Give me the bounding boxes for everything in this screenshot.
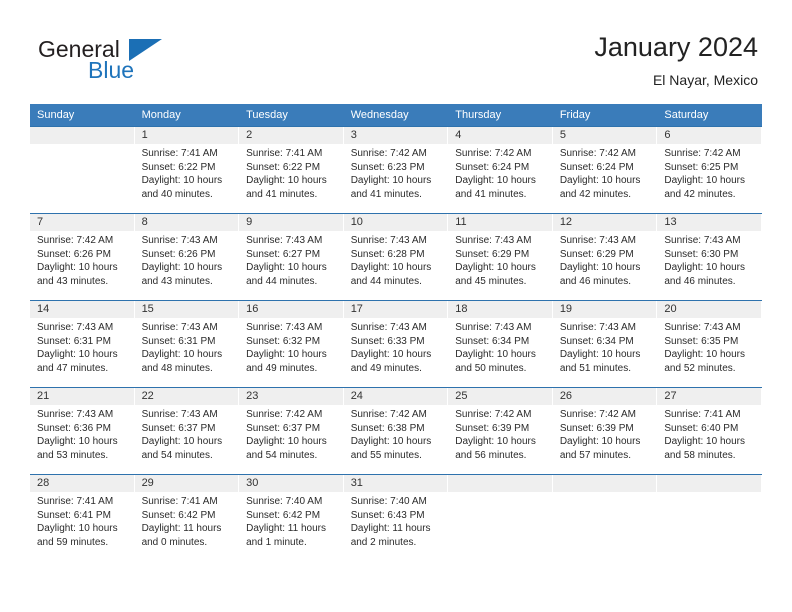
sunset-text: Sunset: 6:33 PM <box>351 335 444 349</box>
sunrise-text: Sunrise: 7:43 AM <box>351 321 444 335</box>
page-title: January 2024 <box>594 30 758 64</box>
sunrise-text: Sunrise: 7:42 AM <box>351 408 444 422</box>
week-detail-band: Sunrise: 7:42 AM Sunset: 6:26 PM Dayligh… <box>30 231 762 300</box>
sunrise-text: Sunrise: 7:43 AM <box>664 321 757 335</box>
sunrise-text: Sunrise: 7:43 AM <box>560 234 653 248</box>
day-cell[interactable]: Sunrise: 7:42 AM Sunset: 6:25 PM Dayligh… <box>657 144 762 213</box>
sunrise-text: Sunrise: 7:43 AM <box>37 321 130 335</box>
day-number[interactable]: 25 <box>448 388 553 405</box>
daylight-text-line1: Daylight: 10 hours <box>142 348 235 362</box>
sunrise-text: Sunrise: 7:41 AM <box>246 147 339 161</box>
day-number[interactable]: 15 <box>135 301 240 318</box>
daylight-text-line1: Daylight: 10 hours <box>560 348 653 362</box>
sunset-text: Sunset: 6:34 PM <box>455 335 548 349</box>
week-daynumber-band: 21 22 23 24 25 26 27 <box>30 388 762 405</box>
calendar-week-row: 28 29 30 31 Sunrise: 7:41 AM Sunset: 6:4… <box>30 474 762 555</box>
daylight-text-line1: Daylight: 10 hours <box>351 348 444 362</box>
day-number[interactable]: 30 <box>239 475 344 492</box>
daylight-text-line2: and 43 minutes. <box>37 275 130 289</box>
sunset-text: Sunset: 6:26 PM <box>37 248 130 262</box>
daylight-text-line1: Daylight: 11 hours <box>351 522 444 536</box>
calendar-page: General Blue January 2024 El Nayar, Mexi… <box>0 0 792 612</box>
daylight-text-line2: and 44 minutes. <box>246 275 339 289</box>
sunset-text: Sunset: 6:40 PM <box>664 422 757 436</box>
day-number[interactable]: 7 <box>30 214 135 231</box>
day-number[interactable]: 17 <box>344 301 449 318</box>
daylight-text-line2: and 52 minutes. <box>664 362 757 376</box>
weekday-header-row: Sunday Monday Tuesday Wednesday Thursday… <box>30 104 762 126</box>
day-cell[interactable]: Sunrise: 7:43 AM Sunset: 6:28 PM Dayligh… <box>344 231 449 300</box>
daylight-text-line2: and 42 minutes. <box>664 188 757 202</box>
sunset-text: Sunset: 6:37 PM <box>142 422 235 436</box>
day-cell[interactable] <box>30 144 135 213</box>
daylight-text-line2: and 41 minutes. <box>246 188 339 202</box>
title-block: January 2024 El Nayar, Mexico <box>594 30 758 90</box>
sunset-text: Sunset: 6:32 PM <box>246 335 339 349</box>
daylight-text-line1: Daylight: 11 hours <box>142 522 235 536</box>
day-number[interactable]: 11 <box>448 214 553 231</box>
day-number[interactable]: 13 <box>657 214 762 231</box>
day-cell[interactable]: Sunrise: 7:43 AM Sunset: 6:33 PM Dayligh… <box>344 318 449 387</box>
daylight-text-line2: and 48 minutes. <box>142 362 235 376</box>
daylight-text-line1: Daylight: 10 hours <box>560 174 653 188</box>
sunset-text: Sunset: 6:38 PM <box>351 422 444 436</box>
daylight-text-line2: and 41 minutes. <box>351 188 444 202</box>
sunrise-text: Sunrise: 7:43 AM <box>246 234 339 248</box>
daylight-text-line2: and 0 minutes. <box>142 536 235 550</box>
sunset-text: Sunset: 6:39 PM <box>560 422 653 436</box>
daylight-text-line1: Daylight: 10 hours <box>37 435 130 449</box>
daylight-text-line1: Daylight: 10 hours <box>142 435 235 449</box>
sunrise-text: Sunrise: 7:42 AM <box>37 234 130 248</box>
sunset-text: Sunset: 6:23 PM <box>351 161 444 175</box>
day-cell[interactable]: Sunrise: 7:43 AM Sunset: 6:32 PM Dayligh… <box>239 318 344 387</box>
sunset-text: Sunset: 6:36 PM <box>37 422 130 436</box>
sunrise-text: Sunrise: 7:41 AM <box>142 495 235 509</box>
week-daynumber-band: 7 8 9 10 11 12 13 <box>30 214 762 231</box>
daylight-text-line2: and 56 minutes. <box>455 449 548 463</box>
week-detail-band: Sunrise: 7:43 AM Sunset: 6:36 PM Dayligh… <box>30 405 762 474</box>
daylight-text-line1: Daylight: 10 hours <box>37 261 130 275</box>
week-daynumber-band: 1 2 3 4 5 6 <box>30 127 762 144</box>
day-cell[interactable]: Sunrise: 7:41 AM Sunset: 6:22 PM Dayligh… <box>239 144 344 213</box>
daylight-text-line1: Daylight: 10 hours <box>246 261 339 275</box>
sunrise-text: Sunrise: 7:43 AM <box>455 321 548 335</box>
day-cell[interactable]: Sunrise: 7:41 AM Sunset: 6:40 PM Dayligh… <box>657 405 762 474</box>
calendar-week-row: 14 15 16 17 18 19 20 Sunrise: 7:43 AM Su… <box>30 300 762 387</box>
daylight-text-line2: and 45 minutes. <box>455 275 548 289</box>
daylight-text-line1: Daylight: 10 hours <box>351 435 444 449</box>
calendar-week-row: 7 8 9 10 11 12 13 Sunrise: 7:42 AM Sunse… <box>30 213 762 300</box>
day-cell[interactable]: Sunrise: 7:42 AM Sunset: 6:38 PM Dayligh… <box>344 405 449 474</box>
daylight-text-line1: Daylight: 10 hours <box>142 174 235 188</box>
weekday-thursday: Thursday <box>448 104 553 126</box>
day-number[interactable]: 16 <box>239 301 344 318</box>
sunrise-text: Sunrise: 7:43 AM <box>664 234 757 248</box>
week-detail-band: Sunrise: 7:43 AM Sunset: 6:31 PM Dayligh… <box>30 318 762 387</box>
week-detail-band: Sunrise: 7:41 AM Sunset: 6:41 PM Dayligh… <box>30 492 762 555</box>
day-cell[interactable]: Sunrise: 7:43 AM Sunset: 6:31 PM Dayligh… <box>135 318 240 387</box>
day-cell[interactable]: Sunrise: 7:41 AM Sunset: 6:42 PM Dayligh… <box>135 492 240 555</box>
daylight-text-line1: Daylight: 10 hours <box>664 435 757 449</box>
sunrise-text: Sunrise: 7:42 AM <box>664 147 757 161</box>
day-cell[interactable]: Sunrise: 7:43 AM Sunset: 6:35 PM Dayligh… <box>657 318 762 387</box>
day-cell[interactable]: Sunrise: 7:43 AM Sunset: 6:31 PM Dayligh… <box>30 318 135 387</box>
sunset-text: Sunset: 6:24 PM <box>560 161 653 175</box>
sunset-text: Sunset: 6:42 PM <box>246 509 339 523</box>
day-number[interactable]: 8 <box>135 214 240 231</box>
day-cell[interactable]: Sunrise: 7:42 AM Sunset: 6:39 PM Dayligh… <box>553 405 658 474</box>
day-number[interactable]: 26 <box>553 388 658 405</box>
sunrise-text: Sunrise: 7:42 AM <box>560 408 653 422</box>
sunrise-text: Sunrise: 7:43 AM <box>560 321 653 335</box>
week-daynumber-band: 14 15 16 17 18 19 20 <box>30 301 762 318</box>
daylight-text-line2: and 49 minutes. <box>246 362 339 376</box>
day-number[interactable]: 9 <box>239 214 344 231</box>
day-cell[interactable]: Sunrise: 7:43 AM Sunset: 6:36 PM Dayligh… <box>30 405 135 474</box>
sunrise-text: Sunrise: 7:42 AM <box>246 408 339 422</box>
daylight-text-line1: Daylight: 10 hours <box>455 261 548 275</box>
sunrise-text: Sunrise: 7:42 AM <box>560 147 653 161</box>
day-number[interactable]: 21 <box>30 388 135 405</box>
daylight-text-line2: and 59 minutes. <box>37 536 130 550</box>
day-cell[interactable]: Sunrise: 7:42 AM Sunset: 6:24 PM Dayligh… <box>553 144 658 213</box>
daylight-text-line2: and 41 minutes. <box>455 188 548 202</box>
day-cell[interactable]: Sunrise: 7:43 AM Sunset: 6:30 PM Dayligh… <box>657 231 762 300</box>
sunset-text: Sunset: 6:29 PM <box>560 248 653 262</box>
day-number[interactable]: 12 <box>553 214 658 231</box>
day-cell[interactable]: Sunrise: 7:43 AM Sunset: 6:34 PM Dayligh… <box>448 318 553 387</box>
sunset-text: Sunset: 6:34 PM <box>560 335 653 349</box>
day-number[interactable] <box>553 475 658 492</box>
daylight-text-line2: and 1 minute. <box>246 536 339 550</box>
daylight-text-line1: Daylight: 10 hours <box>351 261 444 275</box>
day-number[interactable]: 18 <box>448 301 553 318</box>
sunset-text: Sunset: 6:22 PM <box>142 161 235 175</box>
sunrise-text: Sunrise: 7:42 AM <box>455 408 548 422</box>
sunset-text: Sunset: 6:22 PM <box>246 161 339 175</box>
daylight-text-line2: and 50 minutes. <box>455 362 548 376</box>
day-number[interactable]: 6 <box>657 127 762 144</box>
day-number[interactable]: 3 <box>344 127 449 144</box>
day-cell[interactable]: Sunrise: 7:43 AM Sunset: 6:34 PM Dayligh… <box>553 318 658 387</box>
day-number[interactable] <box>657 475 762 492</box>
day-number[interactable]: 4 <box>448 127 553 144</box>
daylight-text-line1: Daylight: 10 hours <box>455 174 548 188</box>
sunset-text: Sunset: 6:31 PM <box>37 335 130 349</box>
daylight-text-line1: Daylight: 10 hours <box>246 435 339 449</box>
daylight-text-line2: and 44 minutes. <box>351 275 444 289</box>
day-cell[interactable]: Sunrise: 7:43 AM Sunset: 6:27 PM Dayligh… <box>239 231 344 300</box>
sunrise-text: Sunrise: 7:43 AM <box>142 321 235 335</box>
sunrise-text: Sunrise: 7:43 AM <box>246 321 339 335</box>
sunset-text: Sunset: 6:43 PM <box>351 509 444 523</box>
sunset-text: Sunset: 6:42 PM <box>142 509 235 523</box>
weekday-monday: Monday <box>135 104 240 126</box>
daylight-text-line2: and 2 minutes. <box>351 536 444 550</box>
sunrise-text: Sunrise: 7:43 AM <box>351 234 444 248</box>
day-cell[interactable]: Sunrise: 7:43 AM Sunset: 6:29 PM Dayligh… <box>553 231 658 300</box>
day-cell[interactable]: Sunrise: 7:42 AM Sunset: 6:37 PM Dayligh… <box>239 405 344 474</box>
daylight-text-line2: and 46 minutes. <box>664 275 757 289</box>
daylight-text-line1: Daylight: 10 hours <box>560 435 653 449</box>
daylight-text-line1: Daylight: 10 hours <box>664 261 757 275</box>
daylight-text-line1: Daylight: 10 hours <box>37 348 130 362</box>
daylight-text-line1: Daylight: 10 hours <box>37 522 130 536</box>
calendar-grid: Sunday Monday Tuesday Wednesday Thursday… <box>30 104 762 555</box>
day-number[interactable]: 28 <box>30 475 135 492</box>
day-number[interactable]: 24 <box>344 388 449 405</box>
day-cell[interactable]: Sunrise: 7:43 AM Sunset: 6:37 PM Dayligh… <box>135 405 240 474</box>
daylight-text-line2: and 51 minutes. <box>560 362 653 376</box>
day-cell[interactable]: Sunrise: 7:43 AM Sunset: 6:29 PM Dayligh… <box>448 231 553 300</box>
day-cell[interactable]: Sunrise: 7:40 AM Sunset: 6:42 PM Dayligh… <box>239 492 344 555</box>
daylight-text-line2: and 54 minutes. <box>142 449 235 463</box>
day-number[interactable]: 19 <box>553 301 658 318</box>
daylight-text-line1: Daylight: 10 hours <box>664 348 757 362</box>
day-cell[interactable]: Sunrise: 7:40 AM Sunset: 6:43 PM Dayligh… <box>344 492 449 555</box>
calendar-week-row: 1 2 3 4 5 6 Sunrise: 7:41 AM Sunset: 6:2… <box>30 126 762 213</box>
sunset-text: Sunset: 6:29 PM <box>455 248 548 262</box>
sunset-text: Sunset: 6:25 PM <box>664 161 757 175</box>
sunset-text: Sunset: 6:26 PM <box>142 248 235 262</box>
day-number[interactable]: 23 <box>239 388 344 405</box>
day-number[interactable]: 10 <box>344 214 449 231</box>
sunset-text: Sunset: 6:39 PM <box>455 422 548 436</box>
sunrise-text: Sunrise: 7:41 AM <box>664 408 757 422</box>
sunset-text: Sunset: 6:41 PM <box>37 509 130 523</box>
day-number[interactable]: 22 <box>135 388 240 405</box>
day-number[interactable]: 27 <box>657 388 762 405</box>
page-subtitle: El Nayar, Mexico <box>594 70 758 90</box>
day-number[interactable]: 29 <box>135 475 240 492</box>
daylight-text-line1: Daylight: 10 hours <box>560 261 653 275</box>
day-number[interactable] <box>30 127 135 144</box>
calendar-week-row: 21 22 23 24 25 26 27 Sunrise: 7:43 AM Su… <box>30 387 762 474</box>
day-cell[interactable] <box>448 492 553 555</box>
daylight-text-line1: Daylight: 10 hours <box>351 174 444 188</box>
day-cell[interactable] <box>553 492 658 555</box>
day-cell[interactable]: Sunrise: 7:42 AM Sunset: 6:26 PM Dayligh… <box>30 231 135 300</box>
daylight-text-line1: Daylight: 10 hours <box>246 174 339 188</box>
daylight-text-line2: and 46 minutes. <box>560 275 653 289</box>
sunset-text: Sunset: 6:28 PM <box>351 248 444 262</box>
sunrise-text: Sunrise: 7:40 AM <box>246 495 339 509</box>
sunrise-text: Sunrise: 7:40 AM <box>351 495 444 509</box>
day-number[interactable]: 31 <box>344 475 449 492</box>
weekday-friday: Friday <box>553 104 658 126</box>
weekday-sunday: Sunday <box>30 104 135 126</box>
daylight-text-line2: and 47 minutes. <box>37 362 130 376</box>
sunrise-text: Sunrise: 7:43 AM <box>142 408 235 422</box>
daylight-text-line2: and 43 minutes. <box>142 275 235 289</box>
daylight-text-line2: and 55 minutes. <box>351 449 444 463</box>
daylight-text-line2: and 57 minutes. <box>560 449 653 463</box>
day-cell[interactable] <box>657 492 762 555</box>
day-number[interactable]: 5 <box>553 127 658 144</box>
daylight-text-line1: Daylight: 10 hours <box>455 435 548 449</box>
day-number[interactable]: 20 <box>657 301 762 318</box>
day-cell[interactable]: Sunrise: 7:42 AM Sunset: 6:39 PM Dayligh… <box>448 405 553 474</box>
daylight-text-line1: Daylight: 10 hours <box>246 348 339 362</box>
sunrise-text: Sunrise: 7:43 AM <box>37 408 130 422</box>
weekday-wednesday: Wednesday <box>344 104 449 126</box>
daylight-text-line2: and 58 minutes. <box>664 449 757 463</box>
weekday-tuesday: Tuesday <box>239 104 344 126</box>
day-cell[interactable]: Sunrise: 7:42 AM Sunset: 6:23 PM Dayligh… <box>344 144 449 213</box>
week-detail-band: Sunrise: 7:41 AM Sunset: 6:22 PM Dayligh… <box>30 144 762 213</box>
day-number[interactable]: 14 <box>30 301 135 318</box>
daylight-text-line1: Daylight: 10 hours <box>455 348 548 362</box>
daylight-text-line1: Daylight: 10 hours <box>664 174 757 188</box>
day-number[interactable]: 1 <box>135 127 240 144</box>
day-cell[interactable]: Sunrise: 7:43 AM Sunset: 6:26 PM Dayligh… <box>135 231 240 300</box>
sunset-text: Sunset: 6:37 PM <box>246 422 339 436</box>
sunrise-text: Sunrise: 7:43 AM <box>455 234 548 248</box>
sunrise-text: Sunrise: 7:41 AM <box>37 495 130 509</box>
sunset-text: Sunset: 6:27 PM <box>246 248 339 262</box>
daylight-text-line2: and 49 minutes. <box>351 362 444 376</box>
day-number[interactable]: 2 <box>239 127 344 144</box>
sunset-text: Sunset: 6:24 PM <box>455 161 548 175</box>
sunrise-text: Sunrise: 7:42 AM <box>455 147 548 161</box>
daylight-text-line2: and 42 minutes. <box>560 188 653 202</box>
daylight-text-line2: and 54 minutes. <box>246 449 339 463</box>
daylight-text-line2: and 40 minutes. <box>142 188 235 202</box>
sunset-text: Sunset: 6:31 PM <box>142 335 235 349</box>
day-cell[interactable]: Sunrise: 7:42 AM Sunset: 6:24 PM Dayligh… <box>448 144 553 213</box>
sunrise-text: Sunrise: 7:41 AM <box>142 147 235 161</box>
sunset-text: Sunset: 6:30 PM <box>664 248 757 262</box>
daylight-text-line1: Daylight: 11 hours <box>246 522 339 536</box>
daylight-text-line2: and 53 minutes. <box>37 449 130 463</box>
page-header: General Blue January 2024 El Nayar, Mexi… <box>0 0 792 100</box>
sunrise-text: Sunrise: 7:43 AM <box>142 234 235 248</box>
logo-text-blue: Blue <box>88 57 134 83</box>
sunset-text: Sunset: 6:35 PM <box>664 335 757 349</box>
general-blue-logo[interactable]: General Blue <box>38 36 258 88</box>
day-number[interactable] <box>448 475 553 492</box>
day-cell[interactable]: Sunrise: 7:41 AM Sunset: 6:41 PM Dayligh… <box>30 492 135 555</box>
day-cell[interactable]: Sunrise: 7:41 AM Sunset: 6:22 PM Dayligh… <box>135 144 240 213</box>
week-daynumber-band: 28 29 30 31 <box>30 475 762 492</box>
daylight-text-line1: Daylight: 10 hours <box>142 261 235 275</box>
sunrise-text: Sunrise: 7:42 AM <box>351 147 444 161</box>
weekday-saturday: Saturday <box>657 104 762 126</box>
